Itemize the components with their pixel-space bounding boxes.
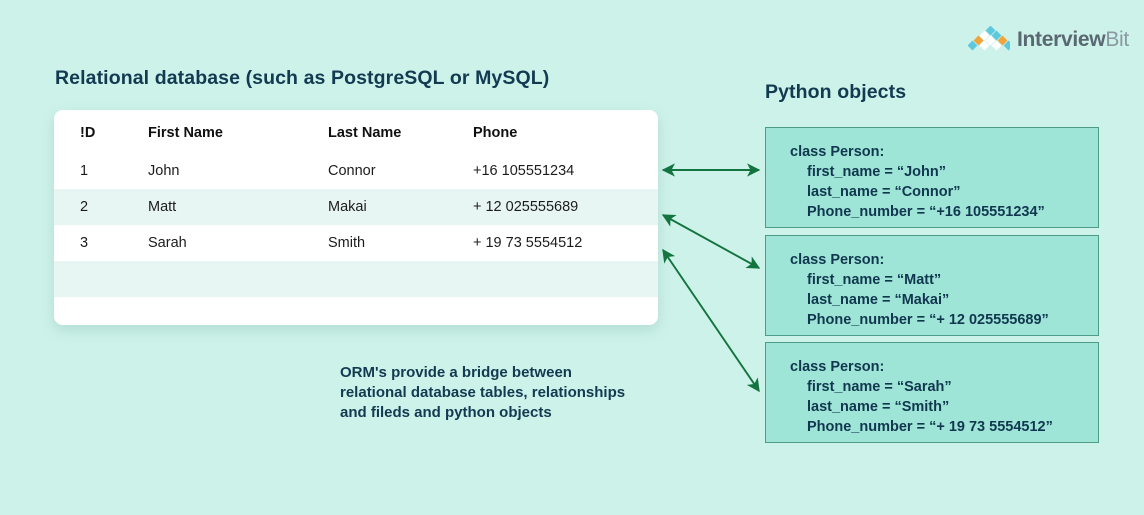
code-line-phone-number: Phone_number = “+ 12 025555689”: [790, 310, 1088, 330]
code-line-first-name: first_name = “John”: [790, 162, 1088, 182]
cell-first-name: John: [148, 153, 328, 189]
cell-first-name: Matt: [148, 189, 328, 225]
cell-last-name: Smith: [328, 225, 473, 261]
python-object-box-person-john: class Person: first_name = “John” last_n…: [765, 127, 1099, 228]
table-header-row: !D First Name Last Name Phone: [54, 110, 658, 153]
cell-id: 2: [54, 189, 148, 225]
orm-description-caption: ORM's provide a bridge between relationa…: [340, 363, 690, 423]
table-row[interactable]: 3 Sarah Smith + 19 73 5554512: [54, 225, 658, 261]
cell-id: 3: [54, 225, 148, 261]
brand-logo: InterviewBit: [968, 26, 1129, 52]
table-row-empty: [54, 297, 658, 325]
connector-arrow-row2: [663, 215, 759, 268]
code-line-last-name: last_name = “Makai”: [790, 290, 1088, 310]
table-header: !D First Name Last Name Phone: [54, 110, 658, 153]
column-header-phone: Phone: [473, 110, 658, 153]
code-line-phone-number: Phone_number = “+ 19 73 5554512”: [790, 417, 1088, 437]
code-line-last-name: last_name = “Smith”: [790, 397, 1088, 417]
column-header-id: !D: [54, 110, 148, 153]
cell-last-name: Connor: [328, 153, 473, 189]
table-row-empty: [54, 261, 658, 297]
cell-id: [54, 261, 148, 297]
table-row[interactable]: 1 John Connor +16 105551234: [54, 153, 658, 189]
python-object-box-person-sarah: class Person: first_name = “Sarah” last_…: [765, 342, 1099, 443]
cell-first-name: [148, 297, 328, 325]
cell-id: 1: [54, 153, 148, 189]
cell-last-name: [328, 261, 473, 297]
cell-phone: + 19 73 5554512: [473, 225, 658, 261]
code-line-last-name: last_name = “Connor”: [790, 182, 1088, 202]
code-line-phone-number: Phone_number = “+16 105551234”: [790, 202, 1088, 222]
table-body: 1 John Connor +16 105551234 2 Matt Makai…: [54, 153, 658, 325]
caption-line: relational database tables, relationship…: [340, 383, 690, 403]
cell-phone: +16 105551234: [473, 153, 658, 189]
python-object-box-person-matt: class Person: first_name = “Matt” last_n…: [765, 235, 1099, 336]
relational-database-heading: Relational database (such as PostgreSQL …: [55, 67, 549, 90]
code-line-class-declaration: class Person:: [790, 357, 1088, 377]
relational-database-table: !D First Name Last Name Phone 1 John Con…: [54, 110, 658, 325]
cell-phone: [473, 297, 658, 325]
cell-id: [54, 297, 148, 325]
table-row[interactable]: 2 Matt Makai + 12 025555689: [54, 189, 658, 225]
relational-database-table-card: !D First Name Last Name Phone 1 John Con…: [54, 110, 658, 325]
code-line-first-name: first_name = “Matt”: [790, 270, 1088, 290]
cell-phone: [473, 261, 658, 297]
cell-last-name: [328, 297, 473, 325]
cell-last-name: Makai: [328, 189, 473, 225]
brand-name-primary: Interview: [1017, 28, 1105, 51]
brand-logo-text: InterviewBit: [1017, 29, 1129, 50]
caption-line: and fileds and python objects: [340, 403, 690, 423]
python-objects-heading: Python objects: [765, 81, 906, 104]
column-header-first-name: First Name: [148, 110, 328, 153]
caption-line: ORM's provide a bridge between: [340, 363, 690, 383]
code-line-first-name: first_name = “Sarah”: [790, 377, 1088, 397]
cell-first-name: Sarah: [148, 225, 328, 261]
brand-name-secondary: Bit: [1105, 28, 1129, 51]
code-line-class-declaration: class Person:: [790, 142, 1088, 162]
cell-first-name: [148, 261, 328, 297]
interviewbit-diamond-logo-icon: [968, 26, 1010, 52]
code-line-class-declaration: class Person:: [790, 250, 1088, 270]
cell-phone: + 12 025555689: [473, 189, 658, 225]
column-header-last-name: Last Name: [328, 110, 473, 153]
